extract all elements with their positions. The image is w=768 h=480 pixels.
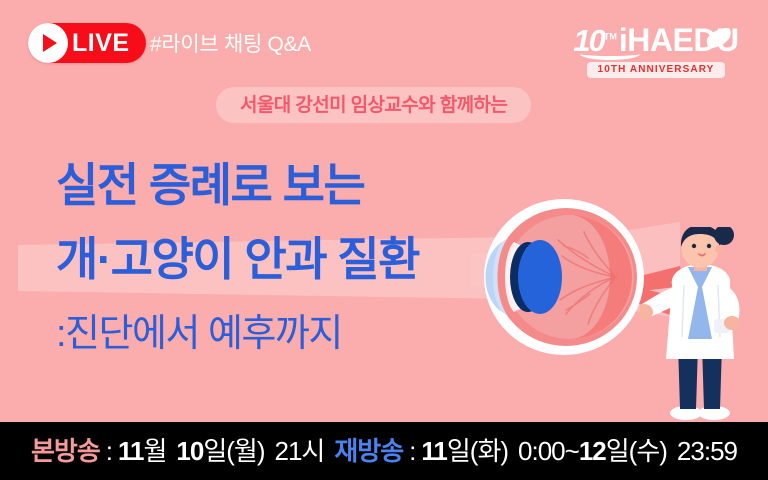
trademark-icon: TM [604, 32, 617, 42]
rerun-day-1: 11 [421, 438, 447, 464]
rerun-time-end: 23:59 [677, 438, 737, 464]
rerun-time-start: 0:00~ [518, 438, 579, 464]
swoosh-icon [580, 48, 640, 60]
rerun-day-2: 12 [579, 438, 606, 464]
schedule-bar: 본방송 : 11 월 10 일(월) 21시 재방송 : 11 일(화) 0:0… [0, 422, 768, 480]
rerun-colon: : [403, 438, 421, 464]
rerun-day-1-unit: 일(화) [447, 438, 508, 464]
live-time: 21시 [275, 438, 325, 464]
live-day: 10 [176, 438, 203, 464]
live-broadcast-label: 본방송 [31, 438, 100, 464]
live-badge[interactable]: LIVE [28, 23, 146, 63]
brand-logo: 10TM iHAEDU 10TH ANNIVERSARY [566, 18, 746, 78]
live-badge-label: LIVE [72, 31, 130, 56]
live-colon: : [100, 438, 118, 464]
live-month: 11 [118, 438, 144, 464]
anniversary-badge: 10TH ANNIVERSARY [587, 62, 726, 78]
logo-mark: 10TM iHAEDU [566, 18, 746, 56]
rerun-day-2-unit: 일(수) [606, 438, 667, 464]
live-day-unit: 일(월) [203, 438, 264, 464]
hashtag-text: #라이브 채팅 Q&A [150, 30, 311, 60]
rerun-label: 재방송 [334, 438, 403, 464]
play-icon [28, 23, 68, 63]
webinar-promo-banner: LIVE #라이브 채팅 Q&A 10TM iHAEDU 10TH ANNIVE… [0, 0, 768, 480]
presenter-subtitle-text: 서울대 강선미 임상교수와 함께하는 [240, 96, 507, 115]
presenter-subtitle-pill: 서울대 강선미 임상교수와 함께하는 [216, 87, 531, 123]
live-month-unit: 월 [144, 438, 167, 464]
doctor-character-icon [640, 227, 760, 422]
